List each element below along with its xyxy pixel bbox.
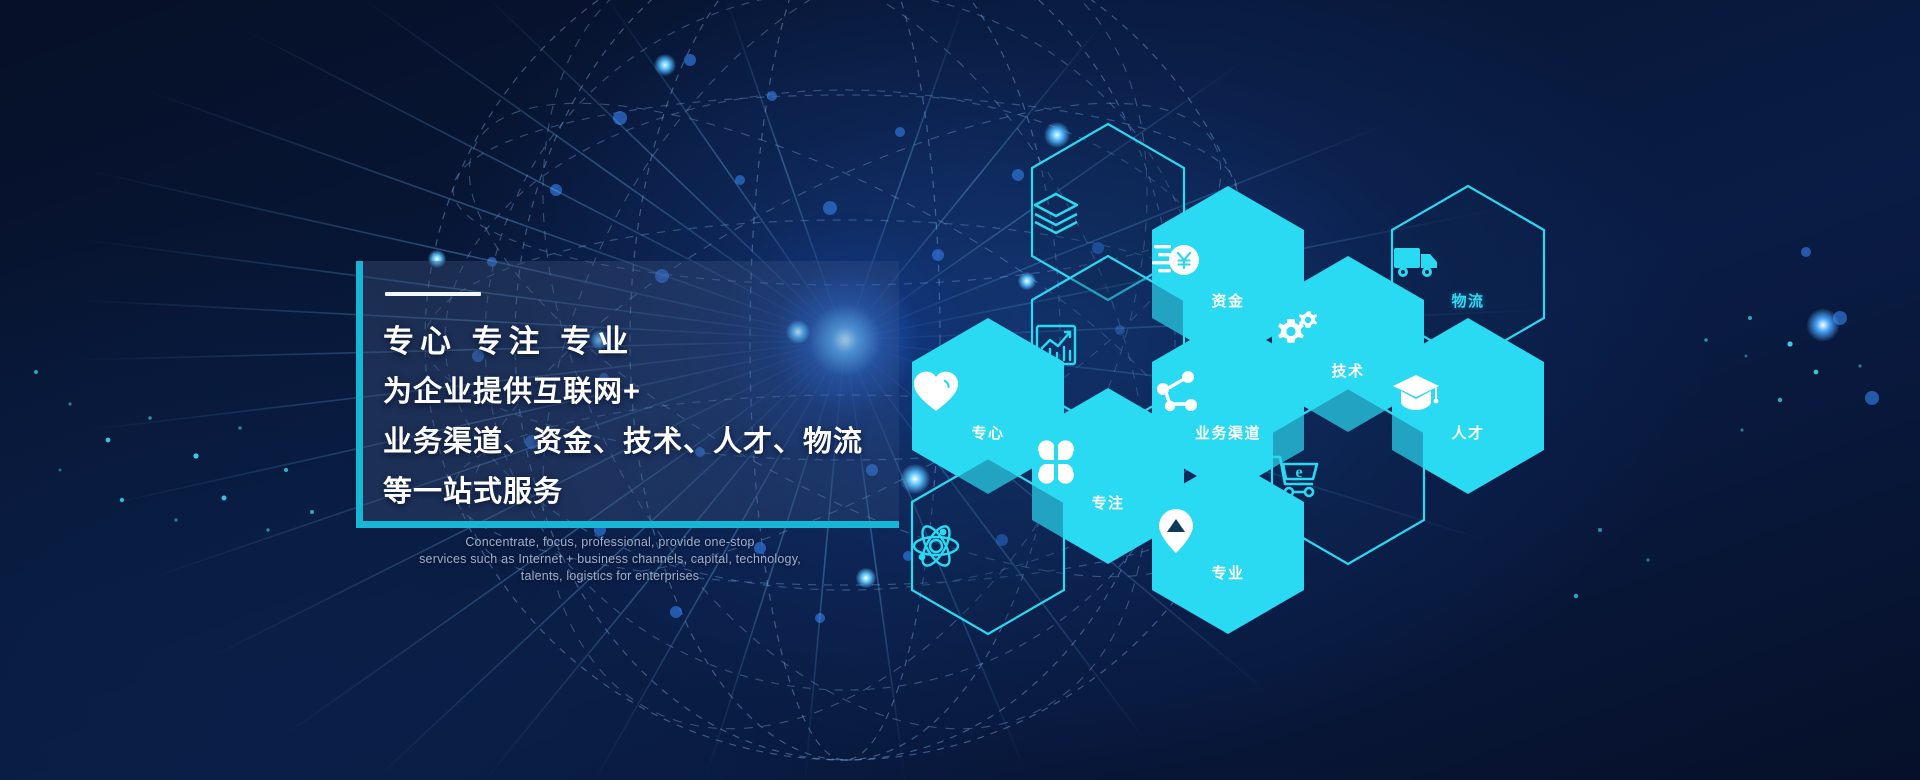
- hex-tile-atom[interactable]: [912, 458, 1064, 634]
- hexagon-cluster: 资金 物流: [0, 0, 1920, 780]
- hex-label-zhuanye: 专业: [1152, 562, 1304, 583]
- hero-banner: 专心 专注 专业 为企业提供互联网+ 业务渠道、资金、技术、人才、物流 等一站式…: [0, 0, 1920, 780]
- hex-tile-zhuanye[interactable]: 专业: [1152, 458, 1304, 634]
